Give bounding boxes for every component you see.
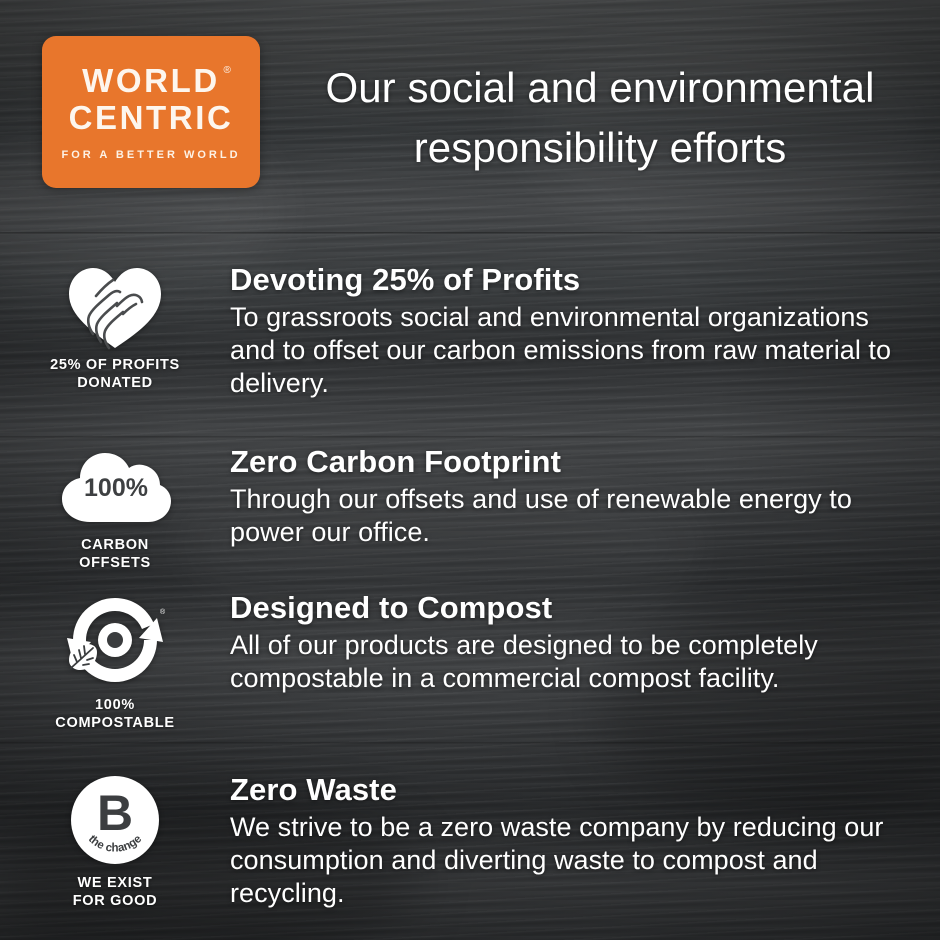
item-title: Devoting 25% of Profits bbox=[230, 262, 920, 298]
icon-column: B the change WE EXIST FOR GOOD bbox=[0, 772, 230, 910]
logo-tagline: FOR A BETTER WORLD bbox=[61, 149, 240, 161]
responsibility-item-compost: ® 100% COMPOSTABLE Designed to Compost A… bbox=[0, 590, 940, 732]
infographic-canvas: WORLD® CENTRIC FOR A BETTER WORLD Our so… bbox=[0, 0, 940, 940]
logo-line-world: WORLD® bbox=[82, 63, 220, 100]
headline-line-1: Our social and environmental bbox=[275, 58, 925, 118]
cloud-100-percent-icon: 100% bbox=[56, 444, 174, 530]
icon-caption: CARBON OFFSETS bbox=[79, 537, 151, 572]
page-title: Our social and environmental responsibil… bbox=[275, 58, 925, 177]
item-title: Designed to Compost bbox=[230, 590, 920, 626]
item-body: To grassroots social and environmental o… bbox=[230, 301, 920, 400]
icon-column: 25% OF PROFITS DONATED bbox=[0, 262, 230, 392]
responsibility-item-profits: 25% OF PROFITS DONATED Devoting 25% of P… bbox=[0, 262, 940, 400]
b-corp-letter: B bbox=[97, 785, 133, 841]
text-column: Devoting 25% of Profits To grassroots so… bbox=[230, 262, 940, 400]
b-corp-icon: B the change bbox=[67, 772, 163, 868]
cloud-percent-label: 100% bbox=[84, 474, 148, 502]
logo-line-centric: CENTRIC bbox=[69, 100, 234, 137]
text-column: Zero Carbon Footprint Through our offset… bbox=[230, 444, 940, 549]
icon-caption: 100% COMPOSTABLE bbox=[55, 697, 174, 732]
responsibility-item-zero-waste: B the change WE EXIST FOR GOOD Zero Wast… bbox=[0, 772, 940, 910]
registered-trademark-icon: ® bbox=[223, 65, 230, 76]
registered-trademark-icon: ® bbox=[160, 608, 166, 616]
item-body: Through our offsets and use of renewable… bbox=[230, 483, 920, 549]
icon-caption: 25% OF PROFITS DONATED bbox=[50, 357, 180, 392]
responsibility-item-carbon: 100% CARBON OFFSETS Zero Carbon Footprin… bbox=[0, 444, 940, 572]
headline-line-2: responsibility efforts bbox=[275, 118, 925, 178]
hands-heart-icon bbox=[63, 262, 167, 350]
text-column: Designed to Compost All of our products … bbox=[230, 590, 940, 695]
logo-word-text: WORLD bbox=[82, 62, 220, 99]
icon-caption: WE EXIST FOR GOOD bbox=[73, 875, 158, 910]
item-body: All of our products are designed to be c… bbox=[230, 629, 920, 695]
world-centric-logo[interactable]: WORLD® CENTRIC FOR A BETTER WORLD bbox=[42, 36, 260, 188]
icon-column: 100% CARBON OFFSETS bbox=[0, 444, 230, 572]
item-title: Zero Waste bbox=[230, 772, 920, 808]
compostable-loop-leaf-icon: ® bbox=[59, 590, 171, 690]
item-title: Zero Carbon Footprint bbox=[230, 444, 920, 480]
text-column: Zero Waste We strive to be a zero waste … bbox=[230, 772, 940, 910]
icon-column: ® 100% COMPOSTABLE bbox=[0, 590, 230, 732]
item-body: We strive to be a zero waste company by … bbox=[230, 811, 920, 910]
